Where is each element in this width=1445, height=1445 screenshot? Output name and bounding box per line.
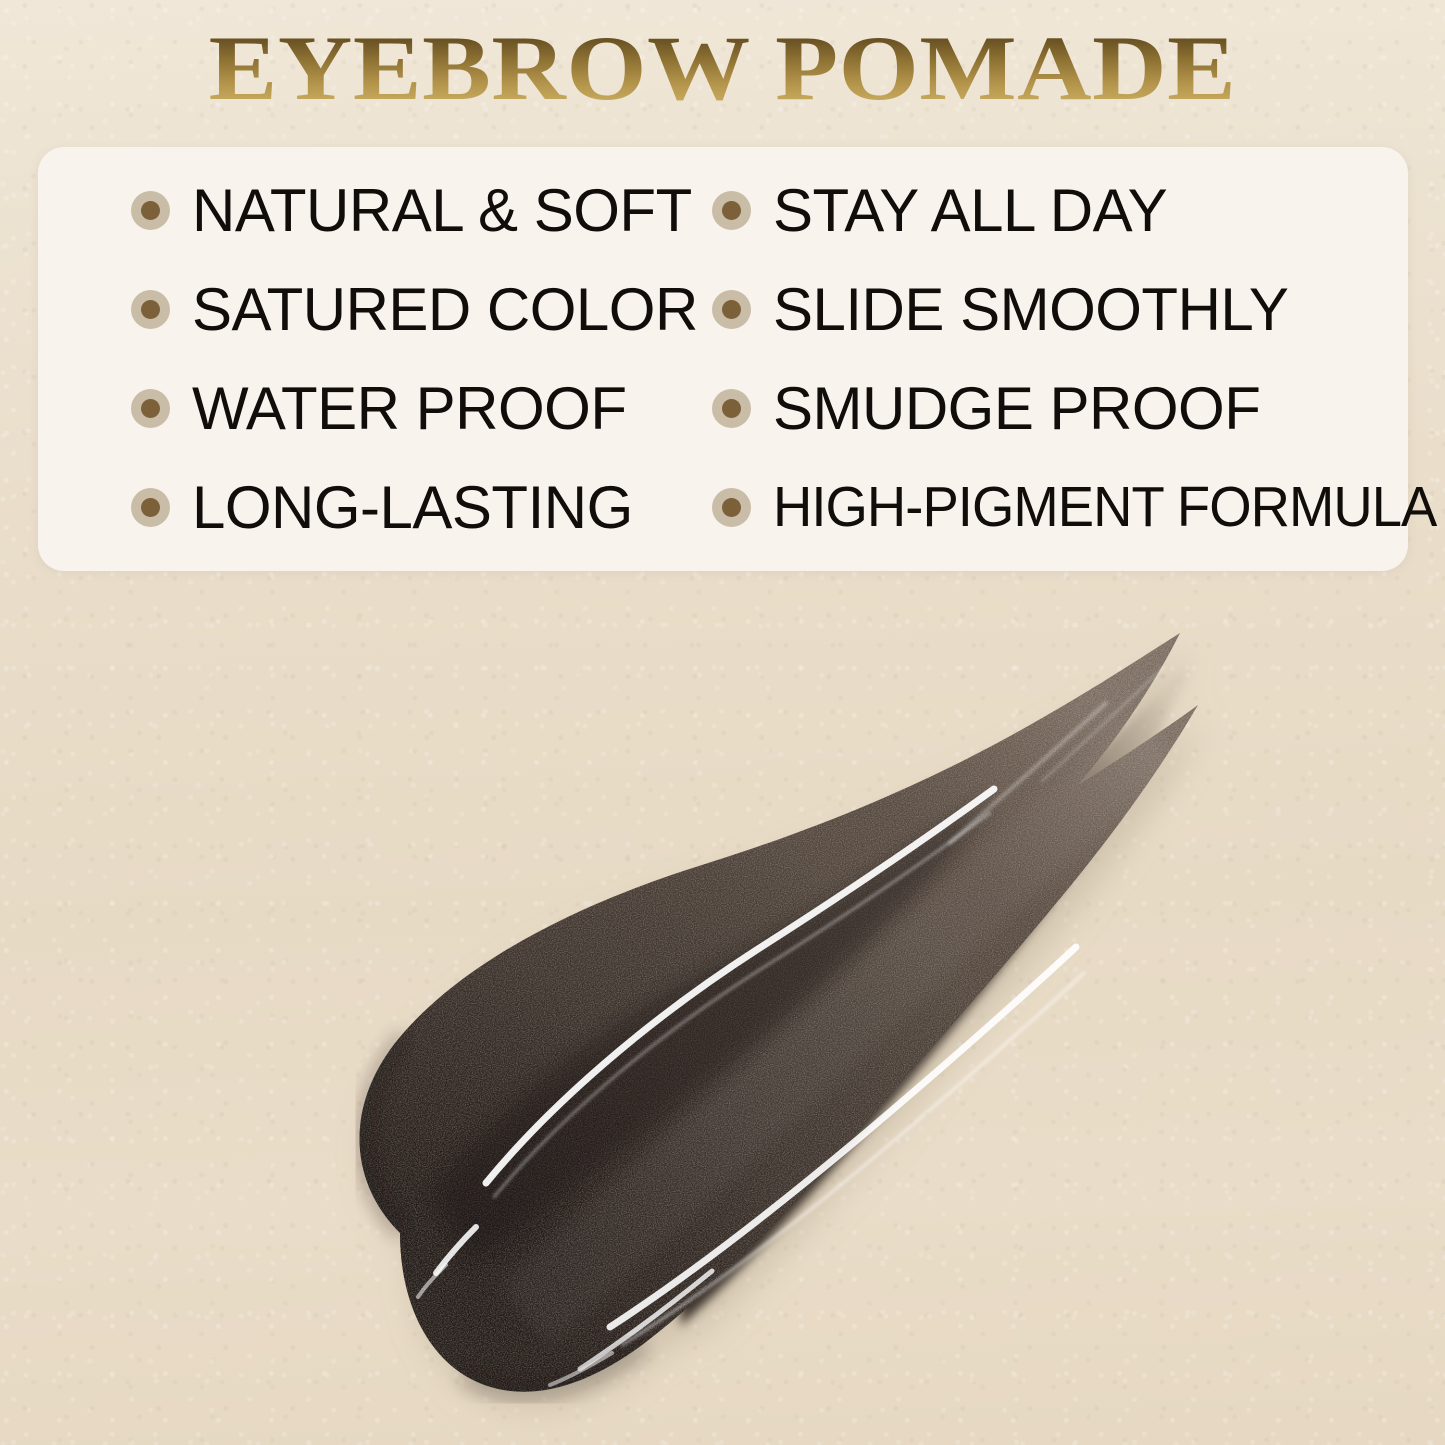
feature-label: STAY ALL DAY — [773, 181, 1167, 241]
feature-item-slide-smoothly: SLIDE SMOOTHLY — [690, 280, 1408, 340]
bullet-dot-icon — [712, 389, 751, 428]
bullet-dot-icon — [712, 191, 751, 230]
feature-item-smudge-proof: SMUDGE PROOF — [690, 379, 1408, 439]
feature-item-high-pigment-formula: HIGH-PIGMENT FORMULA — [690, 479, 1408, 536]
swatch-body — [250, 585, 1260, 1435]
page-title: EYEBROW POMADE — [0, 22, 1445, 114]
bullet-dot-icon — [131, 488, 170, 527]
feature-list-card: NATURAL & SOFT STAY ALL DAY SATURED COLO… — [38, 147, 1408, 571]
feature-label: SLIDE SMOOTHLY — [773, 280, 1288, 340]
bullet-dot-icon — [712, 290, 751, 329]
feature-item-satured-color: SATURED COLOR — [38, 280, 690, 340]
feature-label: WATER PROOF — [192, 379, 626, 439]
feature-label: LONG-LASTING — [192, 478, 633, 538]
feature-item-water-proof: WATER PROOF — [38, 379, 690, 439]
bullet-dot-icon — [712, 488, 751, 527]
pomade-smear-illustration — [250, 585, 1260, 1435]
product-swatch-area — [0, 575, 1445, 1445]
bullet-dot-icon — [131, 389, 170, 428]
feature-label: SATURED COLOR — [192, 280, 698, 340]
feature-item-stay-all-day: STAY ALL DAY — [690, 181, 1408, 241]
feature-label: NATURAL & SOFT — [192, 181, 692, 241]
pomade-smear-swatch — [250, 585, 1260, 1435]
product-image-canvas: EYEBROW POMADE NATURAL & SOFT STAY ALL D… — [0, 0, 1445, 1445]
feature-grid: NATURAL & SOFT STAY ALL DAY SATURED COLO… — [38, 147, 1408, 571]
feature-label: HIGH-PIGMENT FORMULA — [773, 479, 1436, 536]
feature-item-natural-soft: NATURAL & SOFT — [38, 181, 690, 241]
bullet-dot-icon — [131, 191, 170, 230]
bullet-dot-icon — [131, 290, 170, 329]
feature-item-long-lasting: LONG-LASTING — [38, 478, 690, 538]
feature-label: SMUDGE PROOF — [773, 379, 1260, 439]
